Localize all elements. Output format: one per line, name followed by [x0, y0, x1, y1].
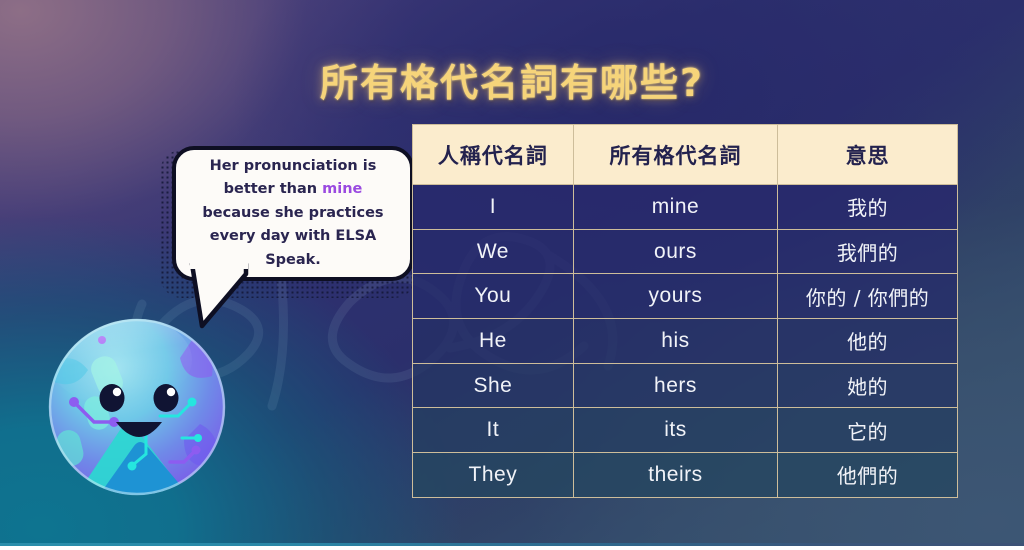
speech-bubble-tail-icon	[186, 262, 250, 330]
cell-meaning: 她的	[778, 363, 958, 408]
cell-possessive: ours	[573, 229, 777, 274]
table-row: We ours 我們的	[413, 229, 958, 274]
table-row: I mine 我的	[413, 185, 958, 230]
cell-possessive: hers	[573, 363, 777, 408]
speech-bubble: Her pronunciation is better than mine be…	[172, 146, 414, 281]
cell-personal: He	[413, 319, 574, 364]
column-header-personal-pronoun: 人稱代名詞	[413, 125, 574, 185]
cell-meaning: 你的 / 你們的	[778, 274, 958, 319]
table-header-row: 人稱代名詞 所有格代名詞 意思	[413, 125, 958, 185]
infographic-canvas: 所有格代名詞有哪些? Her pronunciation is better t…	[0, 0, 1024, 550]
mascot-right-eye	[154, 384, 179, 412]
cell-possessive: his	[573, 319, 777, 364]
pronoun-table-container: 人稱代名詞 所有格代名詞 意思 I mine 我的 We ours 我們的 Yo…	[412, 124, 958, 497]
cell-meaning: 它的	[778, 408, 958, 453]
speech-bubble-text: Her pronunciation is better than mine be…	[190, 155, 396, 272]
table-row: He his 他的	[413, 319, 958, 364]
table-body: I mine 我的 We ours 我們的 You yours 你的 / 你們的…	[413, 185, 958, 498]
cell-possessive: yours	[573, 274, 777, 319]
bottom-white-edge	[0, 546, 1024, 550]
cell-meaning: 他們的	[778, 453, 958, 498]
table-row: They theirs 他們的	[413, 453, 958, 498]
column-header-possessive-pronoun: 所有格代名詞	[573, 125, 777, 185]
cell-possessive: theirs	[573, 453, 777, 498]
bubble-text-after: because she practices every day with ELS…	[202, 205, 383, 268]
pronoun-table: 人稱代名詞 所有格代名詞 意思 I mine 我的 We ours 我們的 Yo…	[412, 124, 958, 498]
elsa-globe-mascot-icon	[42, 312, 232, 502]
mascot-left-eye	[100, 384, 125, 412]
page-title: 所有格代名詞有哪些?	[0, 52, 1024, 107]
cell-personal: You	[413, 274, 574, 319]
cell-personal: They	[413, 453, 574, 498]
cell-personal: We	[413, 229, 574, 274]
column-header-meaning: 意思	[778, 125, 958, 185]
cell-possessive: its	[573, 408, 777, 453]
table-row: It its 它的	[413, 408, 958, 453]
table-row: You yours 你的 / 你們的	[413, 274, 958, 319]
cell-meaning: 他的	[778, 319, 958, 364]
bubble-text-highlight: mine	[322, 181, 362, 197]
cell-possessive: mine	[573, 185, 777, 230]
table-row: She hers 她的	[413, 363, 958, 408]
cell-meaning: 我們的	[778, 229, 958, 274]
cell-personal: I	[413, 185, 574, 230]
cell-personal: She	[413, 363, 574, 408]
cell-meaning: 我的	[778, 185, 958, 230]
cell-personal: It	[413, 408, 574, 453]
